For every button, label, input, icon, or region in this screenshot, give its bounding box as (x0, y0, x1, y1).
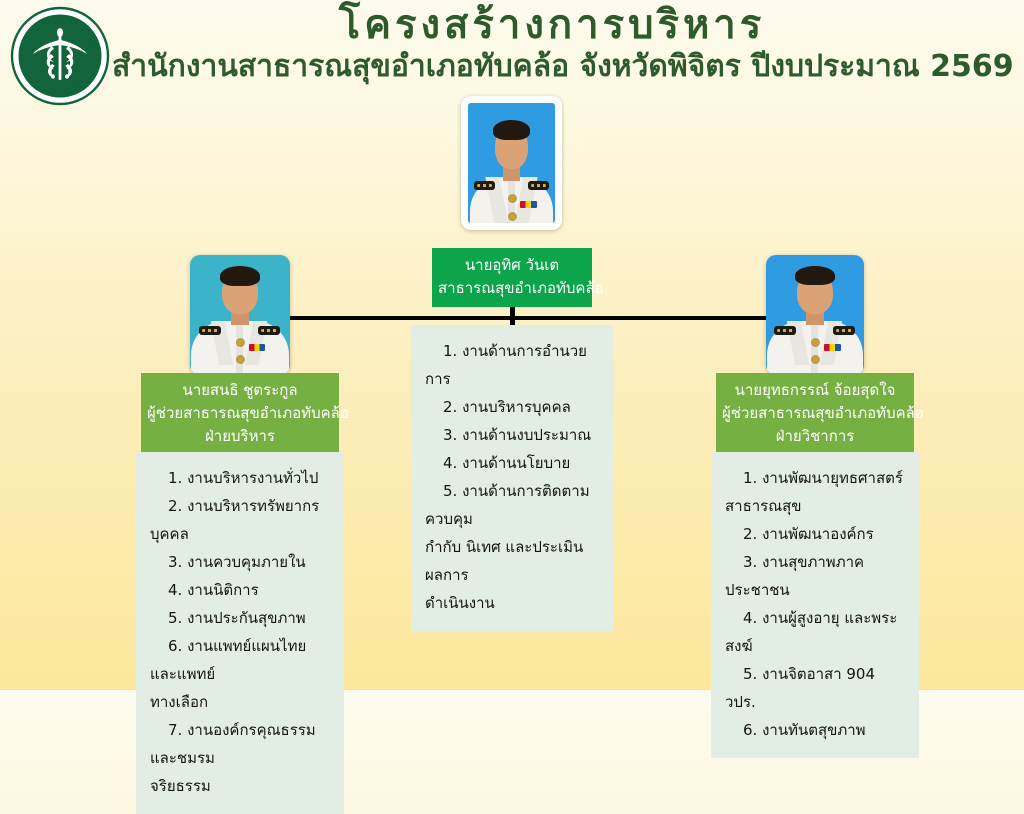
list-item: 6. งานทันตสุขภาพ (725, 716, 905, 744)
left-branch-position: ผู้ช่วยสาธารณสุขอำเภอทับคล้อ (147, 402, 333, 425)
list-item: 5. งานประกันสุขภาพ (150, 604, 330, 632)
page-title: โครงสร้างการบริหาร (112, 2, 992, 48)
list-item: จริยธรรม (150, 772, 330, 800)
ministry-of-public-health-seal-icon: กระทรวงสาธารณสุข MINISTRY OF PUBLIC HEAL… (8, 4, 112, 108)
chief-name: นายอุทิศ วันเต (438, 254, 586, 277)
list-item: สาธารณสุข (725, 492, 905, 520)
chief-duties-list: 1. งานด้านการอำนวยการ 2. งานบริหารบุคคล … (411, 325, 613, 631)
left-branch-division: ฝ่ายบริหาร (147, 425, 333, 448)
right-branch-duties-list: 1. งานพัฒนายุทธศาสตร์ สาธารณสุข 2. งานพั… (711, 452, 919, 758)
list-item: 2. งานพัฒนาองค์กร (725, 520, 905, 548)
left-branch-name-box: นายสนธิ ชูตระกูล ผู้ช่วยสาธารณสุขอำเภอทั… (141, 373, 339, 455)
list-item: 1. งานบริหารงานทั่วไป (150, 464, 330, 492)
left-branch-duties-list: 1. งานบริหารงานทั่วไป 2. งานบริหารทรัพยา… (136, 452, 344, 814)
list-item: 3. งานควบคุมภายใน (150, 548, 330, 576)
right-branch-name: นายยุทธกรรณ์ จ้อยสุดใจ (722, 379, 908, 402)
org-chart-canvas: กระทรวงสาธารณสุข MINISTRY OF PUBLIC HEAL… (0, 0, 1024, 690)
connector-horizontal (240, 316, 814, 320)
page-subtitle: สำนักงานสาธารณสุขอำเภอทับคล้อ จังหวัดพิจ… (112, 48, 992, 86)
list-item: 4. งานผู้สูงอายุ และพระสงฆ์ (725, 604, 905, 660)
right-branch-division: ฝ่ายวิชาการ (722, 425, 908, 448)
left-branch-name: นายสนธิ ชูตระกูล (147, 379, 333, 402)
list-item: กำกับ นิเทศ และประเมินผลการ (425, 533, 599, 589)
list-item: 2. งานบริหารทรัพยากรบุคคล (150, 492, 330, 548)
list-item: ทางเลือก (150, 688, 330, 716)
chief-name-box: นายอุทิศ วันเต สาธารณสุขอำเภอทับคล้อ (432, 248, 592, 307)
list-item: 2. งานบริหารบุคคล (425, 393, 599, 421)
portrait-photo-academic-deputy (766, 255, 864, 375)
list-item: 5. งานจิตอาสา 904 วปร. (725, 660, 905, 716)
header-title-block: โครงสร้างการบริหาร สำนักงานสาธารณสุขอำเภ… (112, 2, 992, 86)
right-branch-name-box: นายยุทธกรรณ์ จ้อยสุดใจ ผู้ช่วยสาธารณสุขอ… (716, 373, 914, 455)
portrait-photo-chief (461, 96, 562, 230)
list-item: ดำเนินงาน (425, 589, 599, 617)
right-branch-position: ผู้ช่วยสาธารณสุขอำเภอทับคล้อ (722, 402, 908, 425)
list-item: 3. งานสุขภาพภาคประชาชน (725, 548, 905, 604)
list-item: 1. งานพัฒนายุทธศาสตร์ (725, 464, 905, 492)
list-item: 4. งานนิติการ (150, 576, 330, 604)
list-item: 5. งานด้านการติดตาม ควบคุม (425, 477, 599, 533)
list-item: 3. งานด้านงบประมาณ (425, 421, 599, 449)
list-item: 1. งานด้านการอำนวยการ (425, 337, 599, 393)
portrait-photo-admin-deputy (190, 255, 290, 375)
list-item: 7. งานองค์กรคุณธรรมและชมรม (150, 716, 330, 772)
list-item: 4. งานด้านนโยบาย (425, 449, 599, 477)
list-item: 6. งานแพทย์แผนไทยและแพทย์ (150, 632, 330, 688)
chief-position: สาธารณสุขอำเภอทับคล้อ (438, 277, 586, 300)
